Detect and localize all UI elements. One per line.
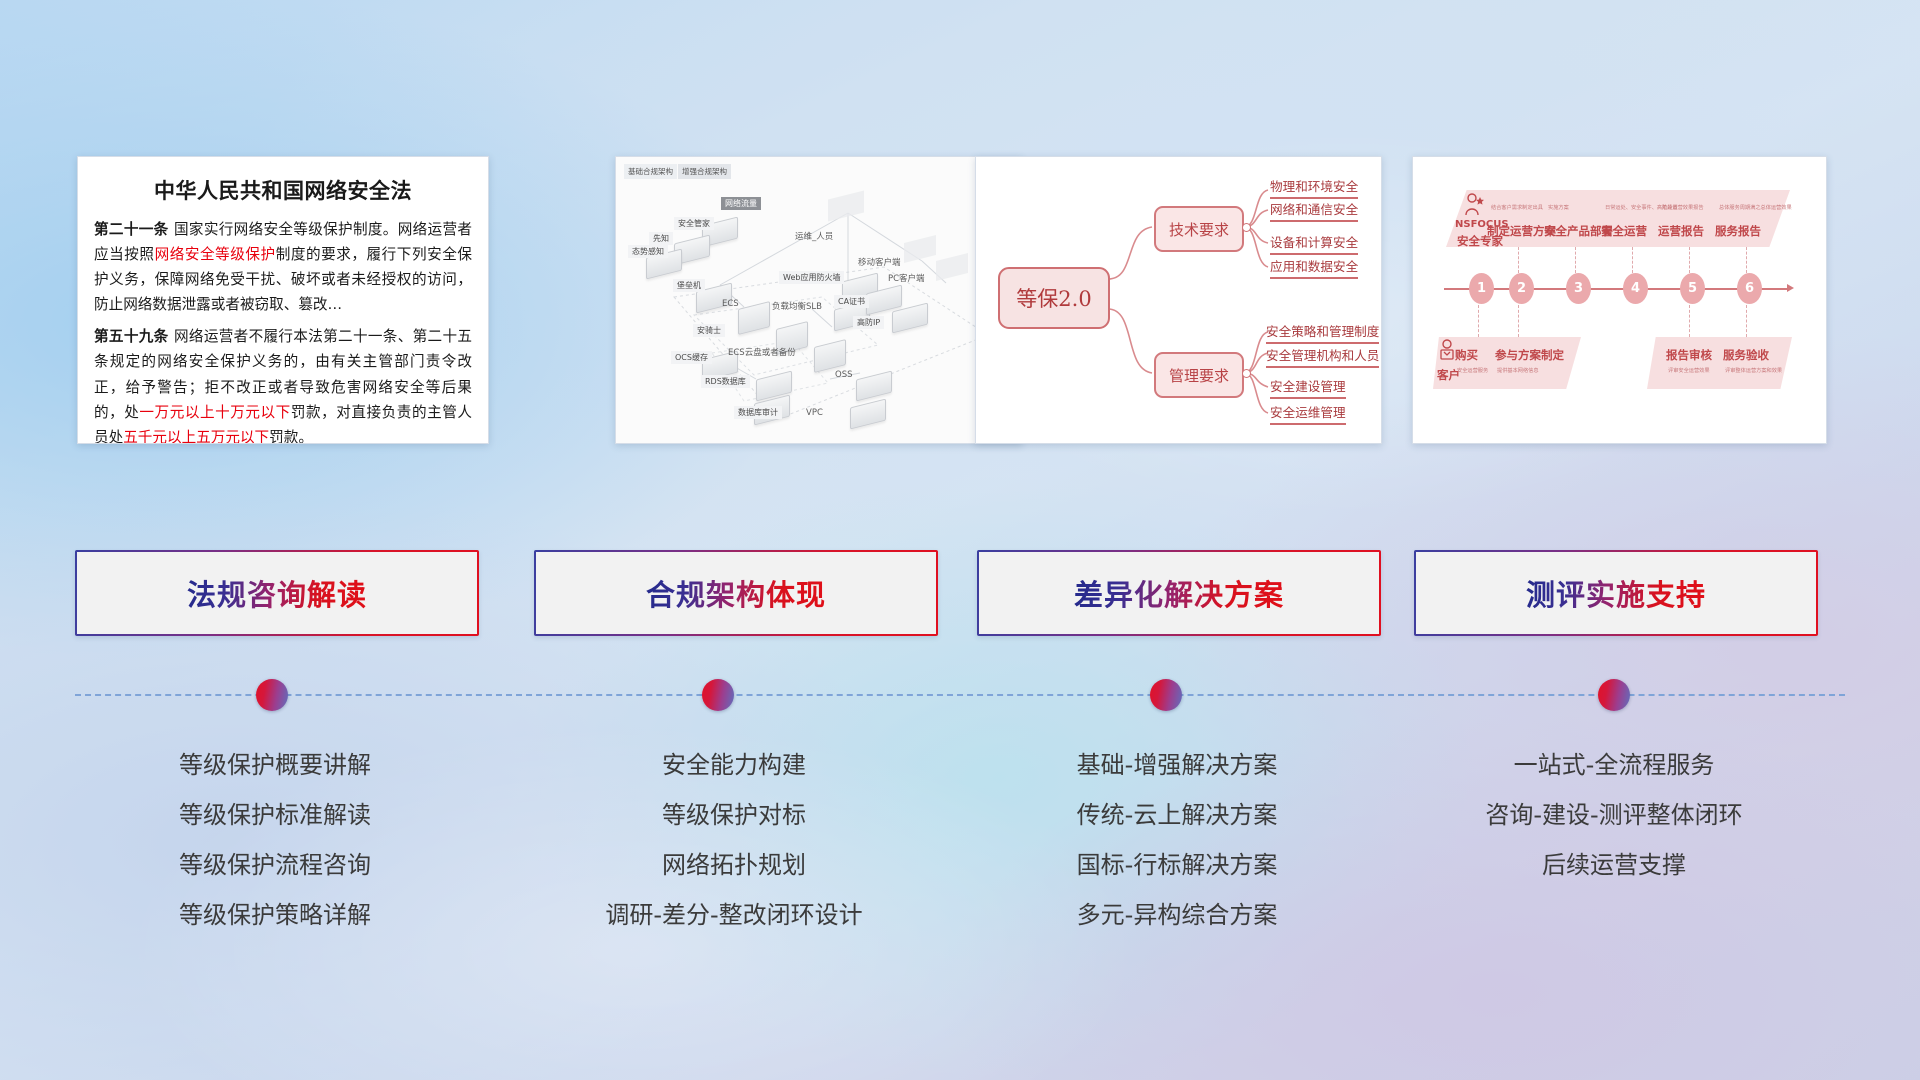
- timeline-step-node-1[interactable]: 1: [1469, 273, 1494, 304]
- mindmap-branch-technical: 技术要求: [1154, 206, 1244, 252]
- list-item: 后续运营支撑: [1414, 840, 1814, 890]
- headline-box-4[interactable]: 测评实施支持: [1414, 550, 1818, 636]
- timeline-step-node-3[interactable]: 3: [1566, 273, 1591, 304]
- arch-node-label: 负载均衡SLB: [768, 299, 826, 313]
- arch-node-label: 先知: [649, 232, 673, 245]
- mindmap-leaf: 设备和计算安全: [1270, 232, 1358, 255]
- customer-step-title: 参与方案制定: [1495, 347, 1564, 363]
- list-item: 等级保护流程咨询: [75, 840, 475, 890]
- timeline-dashed-line: [75, 694, 1845, 696]
- arch-node-label: OSS: [831, 369, 856, 381]
- law-text-run: 第二十一条: [94, 221, 174, 238]
- mindmap-collapse-icon[interactable]: [1242, 369, 1251, 378]
- mindmap-branch-management: 管理要求: [1154, 352, 1244, 398]
- arch-node-label: ECS: [718, 298, 743, 310]
- headline-label: 差异化解决方案: [1074, 572, 1284, 614]
- mindmap-leaf: 物理和环境安全: [1270, 176, 1358, 199]
- card-nsfocus-service-timeline: NSFOCUS 安全专家 客户 123456制定运营方案结合客户需求制定出具安全…: [1412, 156, 1827, 444]
- arch-node-label: 运维_人员: [791, 229, 837, 243]
- customer-step-sub: 安全运营服务: [1457, 367, 1488, 374]
- arch-node-label: RDS数据库: [701, 375, 750, 388]
- arch-node-label: PC客户端: [884, 271, 929, 285]
- headline-box-3[interactable]: 差异化解决方案: [977, 550, 1381, 636]
- list-item: 等级保护标准解读: [75, 790, 475, 840]
- expert-step-sub: 结合客户需求制定出具: [1491, 204, 1543, 211]
- arch-node-label: Web应用防火墙: [779, 271, 844, 284]
- timeline-dot-4[interactable]: [1598, 679, 1630, 711]
- customer-step-connector: [1689, 305, 1690, 337]
- bottom-list-2: 安全能力构建等级保护对标网络拓扑规划调研-差分-整改闭环设计: [534, 740, 934, 940]
- arch-node-label: VPC: [802, 407, 827, 419]
- mindmap-collapse-icon[interactable]: [1242, 223, 1251, 232]
- arch-node-label: 数据库审计: [734, 406, 782, 419]
- law-text-run: 罚款。: [269, 429, 313, 444]
- customer-step-connector: [1746, 305, 1747, 337]
- headline-box-1[interactable]: 法规咨询解读: [75, 550, 479, 636]
- expert-step-sub: 阶段运营效果报告: [1662, 204, 1704, 211]
- expert-step-sub: 总体服务周期满之总体运营效果: [1719, 204, 1792, 211]
- mindmap-leaf: 应用和数据安全: [1270, 256, 1358, 279]
- mindmap-leaf: 安全运维管理: [1270, 402, 1346, 425]
- customer-step-title: 报告审核: [1666, 347, 1712, 363]
- bottom-list-4: 一站式-全流程服务咨询-建设-测评整体闭环后续运营支撑: [1414, 740, 1814, 890]
- law-text-run: 一万元以上十万元以下: [139, 404, 290, 421]
- customer-step-sub: 评审整体运营方案和效果: [1725, 367, 1782, 374]
- expert-step-connector: [1518, 247, 1519, 273]
- arch-node-label: ECS云盘或者备份: [724, 345, 800, 359]
- customer-step-title: 购买: [1455, 347, 1478, 363]
- list-item: 一站式-全流程服务: [1414, 740, 1814, 790]
- law-text-run: 第五十九条: [94, 328, 174, 345]
- arch-node-label: CA证书: [834, 295, 869, 308]
- list-item: 等级保护策略详解: [75, 890, 475, 940]
- timeline-step-node-5[interactable]: 5: [1680, 273, 1705, 304]
- list-item: 等级保护对标: [534, 790, 934, 840]
- customer-step-connector: [1478, 305, 1479, 337]
- arch-node-label: 网络流量: [721, 197, 761, 210]
- list-item: 传统-云上解决方案: [977, 790, 1377, 840]
- card-dengbao-mindmap: 等保2.0 技术要求 管理要求 物理和环境安全 网络和通信安全 设备和计算安全 …: [975, 156, 1382, 444]
- list-item: 多元-异构综合方案: [977, 890, 1377, 940]
- expert-person-icon: [1463, 193, 1485, 217]
- mindmap-leaf: 安全建设管理: [1270, 376, 1346, 399]
- bottom-list-3: 基础-增强解决方案传统-云上解决方案国标-行标解决方案多元-异构综合方案: [977, 740, 1377, 940]
- list-item: 安全能力构建: [534, 740, 934, 790]
- timeline-dot-1[interactable]: [256, 679, 288, 711]
- timeline-step-node-4[interactable]: 4: [1623, 273, 1648, 304]
- nsfocus-customer-band-right: [1647, 337, 1792, 389]
- headline-label: 法规咨询解读: [187, 572, 367, 614]
- nsfocus-axis-arrow-icon: [1787, 284, 1794, 292]
- list-item: 国标-行标解决方案: [977, 840, 1377, 890]
- expert-step-title: 安全运营: [1601, 223, 1647, 239]
- mindmap-leaf: 安全管理机构和人员: [1266, 345, 1379, 368]
- headline-label: 合规架构体现: [646, 572, 826, 614]
- arch-node-label: 移动客户端: [854, 255, 905, 269]
- arch-node-label: 高防IP: [853, 316, 884, 329]
- list-item: 网络拓扑规划: [534, 840, 934, 890]
- arch-node-label: 态势感知: [628, 245, 668, 258]
- expert-step-sub: 实施方案: [1548, 204, 1569, 211]
- arch-node-label: 安骑士: [693, 324, 725, 337]
- headline-label: 测评实施支持: [1526, 572, 1706, 614]
- customer-step-sub: 提供基本网络信息: [1497, 367, 1539, 374]
- timeline-step-node-2[interactable]: 2: [1509, 273, 1534, 304]
- expert-step-connector: [1746, 247, 1747, 273]
- headline-box-2[interactable]: 合规架构体现: [534, 550, 938, 636]
- law-text-run: 网络安全等级保护: [155, 246, 276, 263]
- card-compliance-architecture: 基础合规架构 增强合规架构: [615, 156, 1022, 444]
- expert-step-title: 运营报告: [1658, 223, 1704, 239]
- timeline-dot-3[interactable]: [1150, 679, 1182, 711]
- expert-step-connector: [1575, 247, 1576, 273]
- list-item: 等级保护概要讲解: [75, 740, 475, 790]
- law-text-run: 五千元以上五万元以下: [123, 429, 269, 444]
- expert-step-connector: [1689, 247, 1690, 273]
- expert-step-title: 服务报告: [1715, 223, 1761, 239]
- timeline-dot-2[interactable]: [702, 679, 734, 711]
- mindmap-leaf: 安全策略和管理制度: [1266, 321, 1379, 344]
- bottom-list-1: 等级保护概要讲解等级保护标准解读等级保护流程咨询等级保护策略详解: [75, 740, 475, 940]
- customer-step-connector: [1518, 305, 1519, 337]
- expert-step-connector: [1632, 247, 1633, 273]
- list-item: 基础-增强解决方案: [977, 740, 1377, 790]
- customer-person-icon: [1437, 339, 1457, 365]
- architecture-diagram: 基础合规架构 增强合规架构: [616, 157, 1021, 443]
- customer-step-title: 服务验收: [1723, 347, 1769, 363]
- law-paragraph-59: 第五十九条 网络运营者不履行本法第二十一条、第二十五条规定的网络安全保护义务的，…: [94, 324, 472, 444]
- list-item: 调研-差分-整改闭环设计: [534, 890, 934, 940]
- timeline-step-node-6[interactable]: 6: [1737, 273, 1762, 304]
- arch-node-label: OCS缓存: [671, 351, 712, 364]
- mindmap-root: 等保2.0: [998, 267, 1110, 329]
- list-item: 咨询-建设-测评整体闭环: [1414, 790, 1814, 840]
- law-paragraph-21: 第二十一条 国家实行网络安全等级保护制度。网络运营者应当按照网络安全等级保护制度…: [94, 217, 472, 317]
- arch-node-label: 安全管家: [674, 217, 714, 230]
- arch-node-label: 堡垒机: [673, 279, 705, 292]
- customer-step-sub: 评审安全运营效果: [1668, 367, 1710, 374]
- card-cybersecurity-law: 中华人民共和国网络安全法 第二十一条 国家实行网络安全等级保护制度。网络运营者应…: [77, 156, 489, 444]
- law-title: 中华人民共和国网络安全法: [94, 175, 472, 205]
- mindmap-leaf: 网络和通信安全: [1270, 199, 1358, 222]
